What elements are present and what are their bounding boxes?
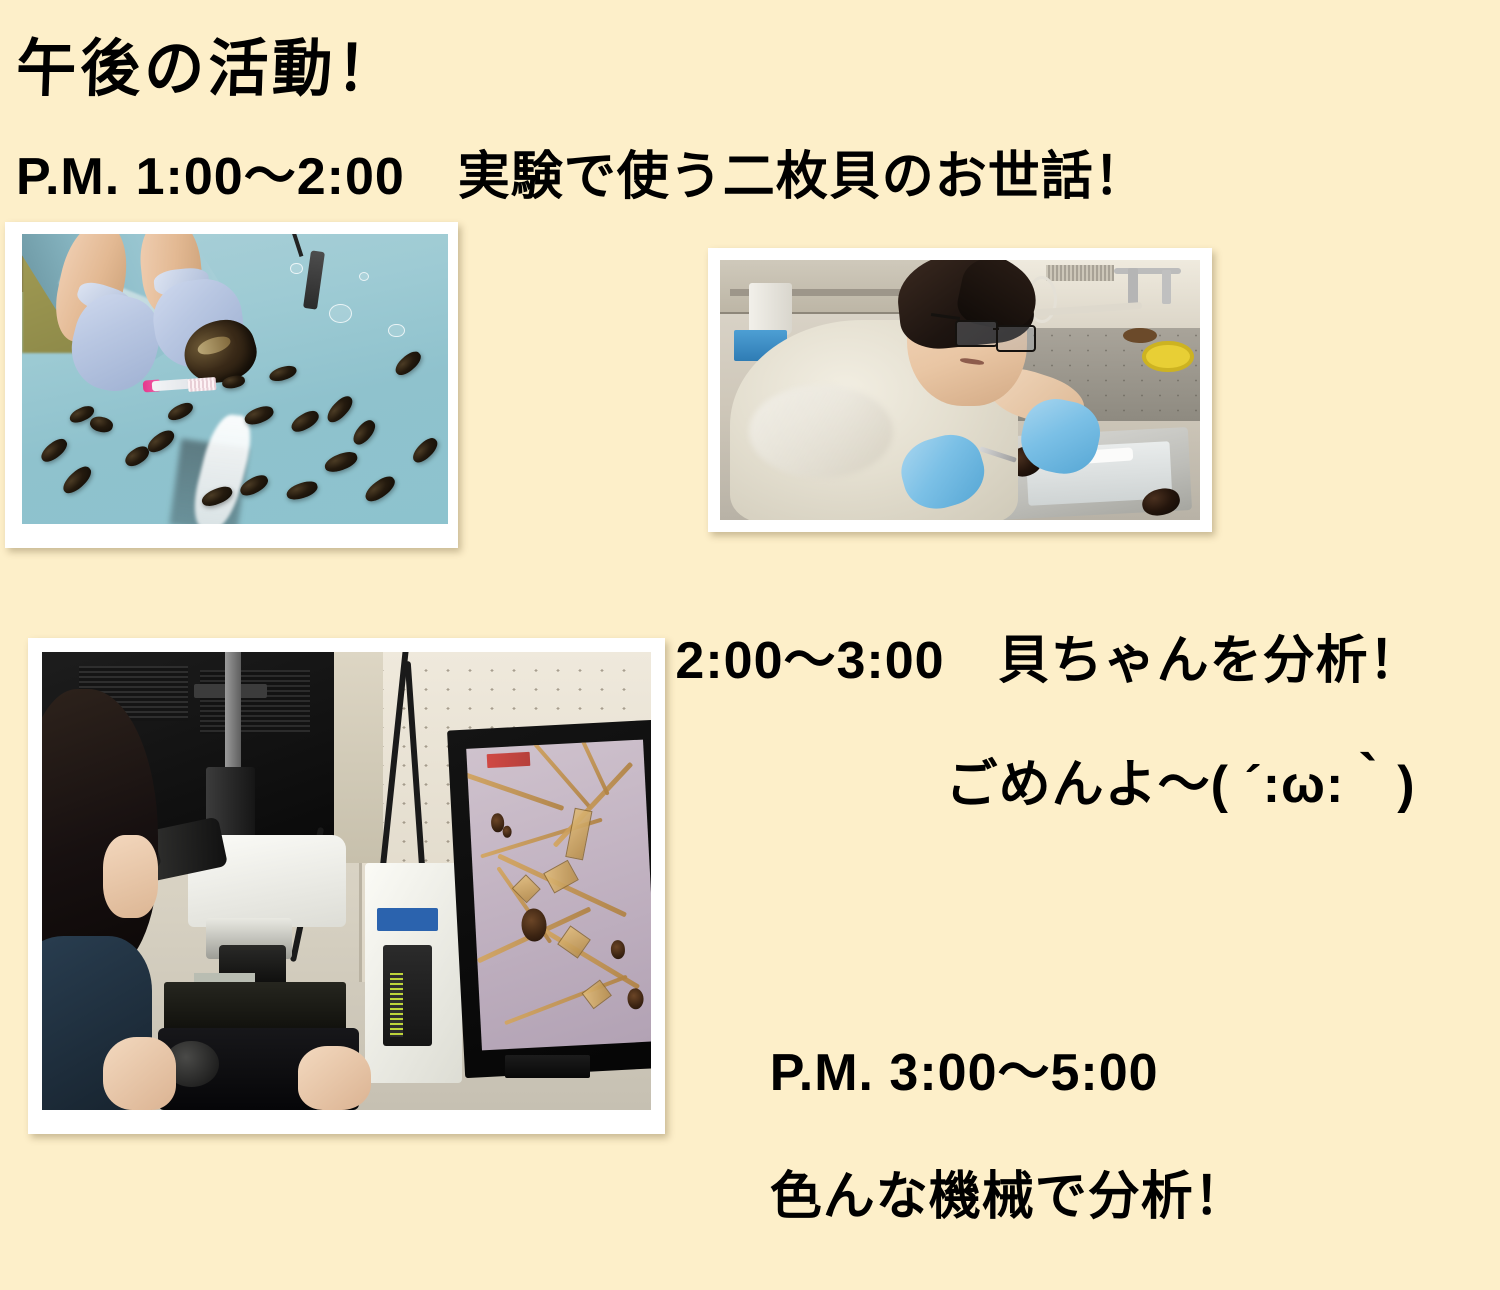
photo-microscope-image bbox=[42, 652, 651, 1110]
diatom-filament bbox=[571, 739, 610, 795]
sweater-fold bbox=[749, 385, 893, 479]
diatom-cell bbox=[512, 874, 541, 903]
faucet bbox=[1162, 270, 1172, 304]
diatom-cell bbox=[565, 808, 592, 861]
schedule-activity-pm-3-5: 色んな機械で分析！ bbox=[770, 1168, 1247, 1226]
camera-column bbox=[225, 652, 241, 780]
page-title: 午後の活動！ bbox=[15, 18, 402, 108]
photo-bivalve-tank bbox=[5, 222, 458, 548]
faucet bbox=[1128, 268, 1138, 304]
photo-bivalve-tank-image bbox=[22, 234, 448, 524]
diatom-filament bbox=[553, 762, 633, 848]
vent-grille bbox=[200, 670, 310, 734]
diatom-filament bbox=[505, 974, 629, 1025]
schedule-block-pm-3-5: P.M. 3:00〜5:00 色んな機械で分析！ bbox=[708, 980, 1247, 1290]
wall-vent bbox=[1046, 265, 1113, 281]
glasses-lens-right bbox=[996, 325, 1036, 352]
monitor-stand bbox=[505, 1055, 590, 1078]
bubble bbox=[329, 304, 352, 323]
glasses-bridge bbox=[993, 328, 999, 330]
diatom-filament bbox=[467, 771, 566, 811]
yellow-tape-roll bbox=[1142, 341, 1193, 372]
debris-clump bbox=[521, 908, 547, 942]
debris-clump bbox=[611, 940, 626, 959]
debris bbox=[1123, 328, 1157, 344]
schedule-line-pm-1-2: P.M. 1:00〜2:00 実験で使う二枚貝のお世話！ bbox=[16, 134, 1147, 209]
screen-overlay-text bbox=[486, 752, 529, 768]
bubble bbox=[290, 263, 302, 274]
observer-face bbox=[103, 835, 158, 917]
monitor-screen bbox=[467, 739, 651, 1050]
white-bucket bbox=[749, 283, 792, 335]
glasses-lens-left bbox=[955, 320, 997, 347]
observer-hand-left bbox=[103, 1037, 176, 1110]
photo-microscope bbox=[28, 638, 665, 1134]
photo-student-dissecting bbox=[708, 248, 1212, 532]
debris-clump bbox=[502, 825, 511, 838]
toothbrush-head bbox=[188, 377, 217, 392]
led-indicators bbox=[390, 973, 402, 1037]
observer-hand-right bbox=[298, 1046, 371, 1110]
debris-clump bbox=[628, 987, 645, 1009]
control-unit-label bbox=[377, 908, 438, 931]
slide-canvas: 午後の活動！ P.M. 1:00〜2:00 実験で使う二枚貝のお世話！ bbox=[0, 0, 1500, 1125]
photo-student-dissecting-image bbox=[720, 260, 1200, 520]
schedule-time-pm-3-5: P.M. 3:00〜5:00 bbox=[770, 1044, 1159, 1102]
schedule-line-pm-2-3: P.M. 2:00〜3:00 貝ちゃんを分析！ bbox=[556, 632, 1422, 690]
